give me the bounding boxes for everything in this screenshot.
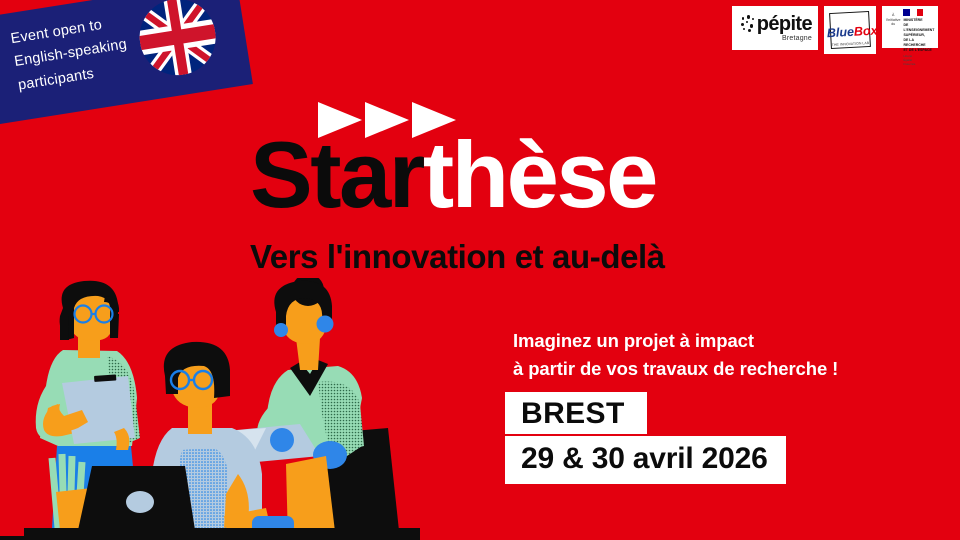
partner-logos: pépite Bretagne BlueBox THE INNOVATION L… bbox=[732, 6, 938, 54]
pepite-region: Bretagne bbox=[782, 35, 812, 42]
event-tagline: Vers l'innovation et au-delà bbox=[250, 238, 665, 276]
logo-ministere-enseignement-superieur: À l'initiative du MINISTÈRE DE L'ENSEIGN… bbox=[882, 6, 938, 48]
event-city: BREST bbox=[505, 392, 647, 434]
bluebox-word-blue: Blue bbox=[827, 25, 855, 40]
pepite-dots-icon bbox=[741, 15, 756, 33]
logo-bluebox: BlueBox THE INNOVATION LAB bbox=[824, 6, 876, 54]
ministere-prefix: À l'initiative du bbox=[886, 9, 900, 27]
event-date: 29 & 30 avril 2026 bbox=[505, 436, 786, 484]
pepite-wordmark: pépite bbox=[757, 14, 812, 34]
bluebox-word-red: Box bbox=[854, 24, 878, 39]
french-flag-icon bbox=[903, 9, 923, 16]
three-people-working-illustration bbox=[0, 278, 420, 540]
title-part-these: thèse bbox=[423, 122, 656, 227]
title-part-star: Star bbox=[250, 122, 423, 227]
ministere-devise: Liberté Égalité Fraternité bbox=[903, 55, 934, 67]
ministere-title: MINISTÈRE DE L'ENSEIGNEMENT SUPÉRIEUR, D… bbox=[903, 18, 934, 53]
event-pitch: Imaginez un projet à impact à partir de … bbox=[513, 327, 838, 383]
page-title: Starthèse bbox=[250, 128, 656, 222]
starthese-event-poster: Event open to English-speaking participa… bbox=[0, 0, 960, 540]
logo-pepite-bretagne: pépite Bretagne bbox=[732, 6, 818, 50]
english-speaking-banner: Event open to English-speaking participa… bbox=[0, 0, 253, 129]
